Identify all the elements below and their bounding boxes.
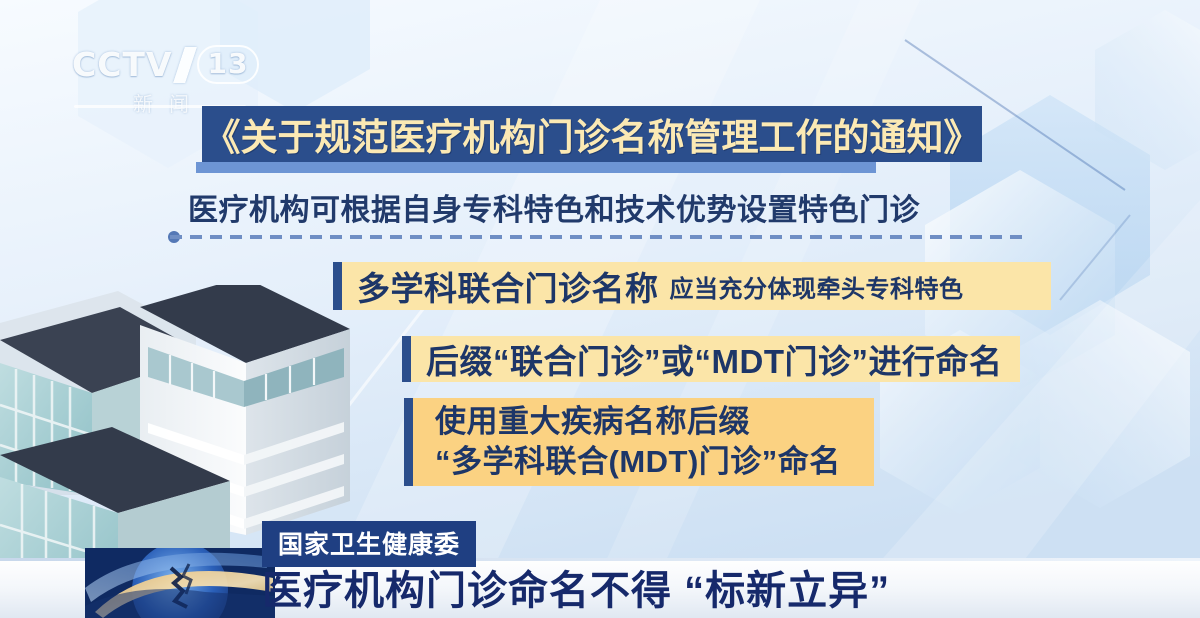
- policy-item-1-detail: 应当充分体现牵头专科特色: [670, 269, 964, 304]
- policy-item-2-lead: 后缀“联合门诊”或“MDT门诊”进行命名: [426, 335, 1002, 383]
- subtitle-text: 医疗机构可根据自身专科特色和技术优势设置特色门诊: [188, 185, 920, 229]
- policy-item-2: 后缀“联合门诊”或“MDT门诊”进行命名: [402, 336, 1020, 382]
- policy-item-3-bar: [404, 398, 413, 486]
- document-title-banner: 《关于规范医疗机构门诊名称管理工作的通知》: [202, 106, 982, 162]
- policy-item-1: 多学科联合门诊名称 应当充分体现牵头专科特色: [333, 262, 1051, 310]
- policy-item-3-line1: 使用重大疾病名称后缀: [435, 402, 750, 442]
- policy-item-1-lead: 多学科联合门诊名称: [357, 262, 659, 310]
- subtitle-line: 医疗机构可根据自身专科特色和技术优势设置特色门诊: [188, 186, 1008, 228]
- policy-item-2-body: 后缀“联合门诊”或“MDT门诊”进行命名: [411, 336, 1020, 382]
- policy-item-1-body: 多学科联合门诊名称 应当充分体现牵头专科特色: [342, 262, 1051, 310]
- dashed-rule: [170, 235, 1030, 239]
- title-accent-bar: [196, 162, 876, 173]
- policy-item-1-bar: [333, 262, 342, 310]
- broadcast-frame: CCTV 13 新闻 《关于规范医疗机构门诊名称管理工作的通知》 医疗机构可根据…: [0, 0, 1200, 618]
- lower-third-headline-text: 医疗机构门诊命名不得 “标新立异”: [262, 569, 890, 613]
- policy-item-3: 使用重大疾病名称后缀 “多学科联合(MDT)门诊”命名: [404, 398, 874, 486]
- lower-third-headline: 医疗机构门诊命名不得 “标新立异”: [262, 558, 890, 616]
- policy-item-3-line2: “多学科联合(MDT)门诊”命名: [435, 442, 841, 482]
- policy-item-2-bar: [402, 336, 411, 382]
- policy-item-3-body: 使用重大疾病名称后缀 “多学科联合(MDT)门诊”命名: [413, 398, 874, 486]
- lower-third-source-text: 国家卫生健康委: [278, 531, 460, 559]
- document-title-text: 《关于规范医疗机构门诊名称管理工作的通知》: [204, 107, 981, 161]
- lower-third-globe-graphic: [85, 548, 275, 618]
